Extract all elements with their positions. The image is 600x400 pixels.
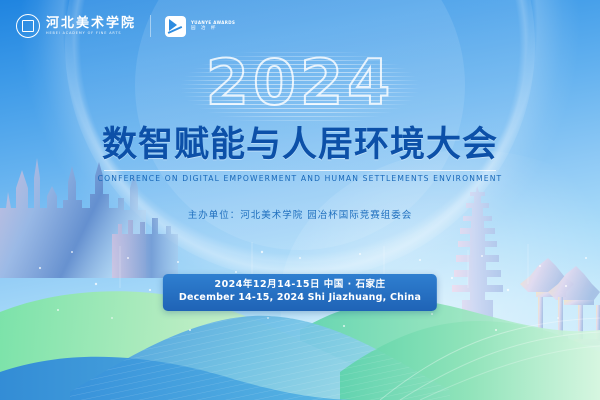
date-location-en: December 14-15, 2024 Shi Jiazhuang, Chin…	[179, 292, 421, 305]
logo-divider	[150, 15, 151, 37]
logo-hebei-cn: 河北美术学院	[46, 17, 136, 31]
organiser-line: 主办单位：河北美术学院 园冶杯国际竞赛组委会	[0, 207, 600, 221]
date-location-badge: 2024年12月14-15日 中国 · 石家庄 December 14-15, …	[163, 274, 437, 311]
seal-emblem-icon	[16, 14, 40, 38]
logo-yuanye-award[interactable]: YUANYE AWARDS 园 冶 杯	[165, 16, 235, 37]
conference-poster: 河北美术学院 HEBEI ACADEMY OF FINE ARTS YUANYE…	[0, 0, 600, 400]
logo-hebei-en: HEBEI ACADEMY OF FINE ARTS	[46, 31, 136, 35]
logo-yuanye-en: YUANYE AWARDS	[191, 20, 235, 25]
year-stripe-overlay	[0, 52, 600, 122]
logo-hebei-academy[interactable]: 河北美术学院 HEBEI ACADEMY OF FINE ARTS	[16, 14, 136, 38]
yuanye-mark-icon	[165, 16, 186, 37]
title-block: 数智赋能与人居环境大会 CONFERENCE ON DIGITAL EMPOWE…	[0, 126, 600, 183]
logo-yuanye-cn: 园 冶 杯	[191, 26, 235, 32]
logo-bar: 河北美术学院 HEBEI ACADEMY OF FINE ARTS YUANYE…	[16, 14, 235, 38]
title-divider	[104, 170, 496, 171]
page-subtitle: CONFERENCE ON DIGITAL EMPOWERMENT AND HU…	[0, 174, 600, 183]
date-location-cn: 2024年12月14-15日 中国 · 石家庄	[179, 279, 421, 292]
page-title: 数智赋能与人居环境大会	[0, 126, 600, 165]
